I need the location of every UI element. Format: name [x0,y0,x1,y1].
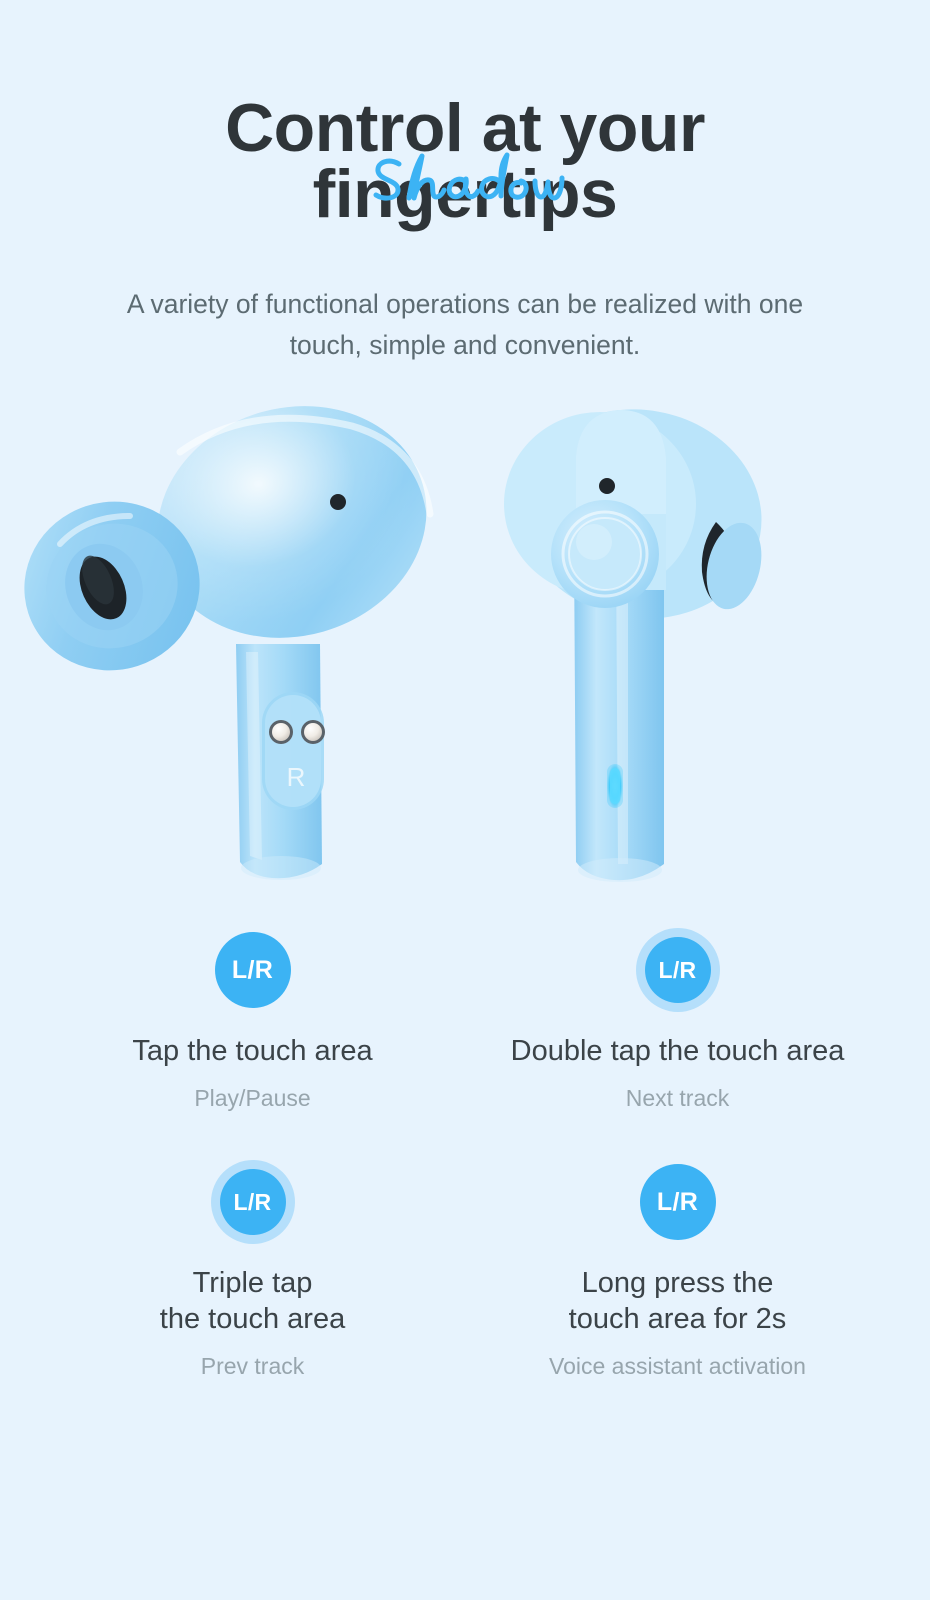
feature-title: Long press the touch area for 2s [569,1266,787,1337]
feature-title: Double tap the touch area [511,1034,845,1069]
right-earbud-graphic [502,394,778,882]
feature-subtitle: Next track [626,1085,730,1112]
feature-long-press: L/R Long press the touch area for 2s Voi… [465,1164,890,1380]
lr-badge: L/R [645,937,711,1003]
feature-subtitle: Play/Pause [194,1085,310,1112]
left-earbud-side-label: R [287,762,306,792]
page-title: Control at your fingertips [0,96,930,228]
mic-hole [599,478,615,494]
left-earbud-graphic: R [2,394,454,880]
mic-hole [330,494,346,510]
feature-title: Triple tap the touch area [160,1266,345,1337]
product-image: R [0,394,930,914]
lr-badge: L/R [640,1164,716,1240]
headline-line-1: Control at your [0,96,930,162]
headline-line-2: fingertips [0,162,930,228]
feature-tap: L/R Tap the touch area Play/Pause [40,932,465,1112]
feature-subtitle: Voice assistant activation [549,1353,806,1380]
feature-title: Tap the touch area [132,1034,372,1069]
lr-badge: L/R [220,1169,286,1235]
header: Control at your fingertips A variety of … [0,0,930,366]
page-subtitle: A variety of functional operations can b… [115,284,815,366]
feature-double-tap: L/R Double tap the touch area Next track [465,932,890,1112]
feature-subtitle: Prev track [201,1353,305,1380]
feature-grid: L/R Tap the touch area Play/Pause L/R Do… [0,914,930,1380]
lr-badge: L/R [215,932,291,1008]
feature-triple-tap: L/R Triple tap the touch area Prev track [40,1164,465,1380]
